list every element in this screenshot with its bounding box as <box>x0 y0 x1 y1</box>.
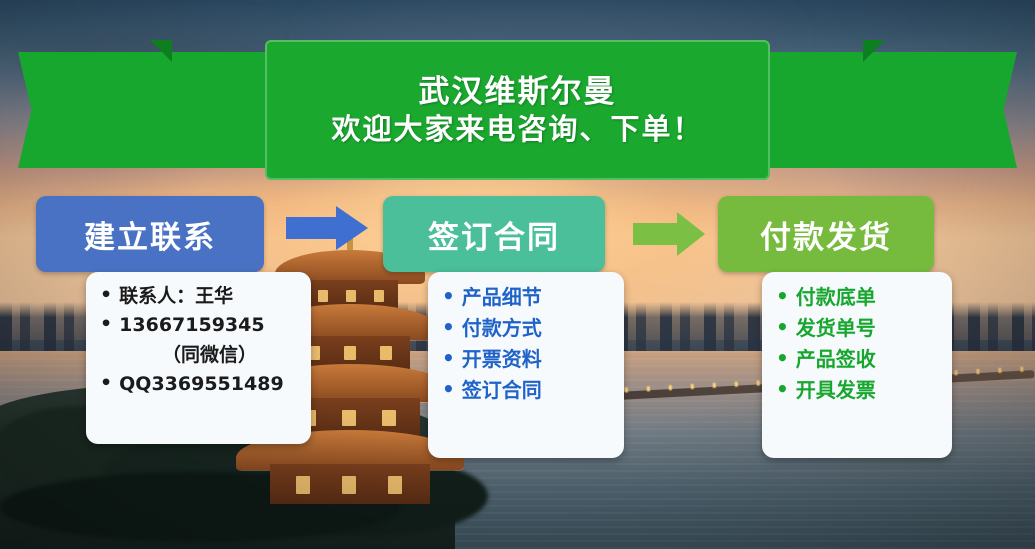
list-item: •开票资料 <box>442 344 610 375</box>
list-item-text: 产品签收 <box>796 344 876 375</box>
list-item-text: 签订合同 <box>462 375 542 406</box>
step-3-bullet-list: •付款底单 •发货单号 •产品签收 •开具发票 <box>776 282 938 406</box>
list-item: •付款底单 <box>776 282 938 313</box>
headline-ribbon: 武汉维斯尔曼 欢迎大家来电咨询、下单！ <box>0 40 1035 180</box>
list-item: •QQ3369551489 <box>100 370 297 399</box>
company-name: 武汉维斯尔曼 <box>419 73 617 112</box>
arrow-step2-to-step3 <box>633 212 705 256</box>
bullet-icon: • <box>776 375 789 404</box>
step-2-title: 签订合同 <box>383 196 605 272</box>
arrow-head-icon <box>677 212 705 256</box>
bullet-icon: • <box>776 282 789 311</box>
bullet-icon: • <box>442 375 455 404</box>
list-item: •联系人：王华 <box>100 282 297 311</box>
bullet-icon: • <box>442 282 455 311</box>
list-item: （同微信） <box>100 341 297 370</box>
list-item: •付款方式 <box>442 313 610 344</box>
bullet-icon: • <box>442 344 455 373</box>
step-3-title: 付款发货 <box>718 196 934 272</box>
ribbon-tail-right <box>867 52 1017 168</box>
bullet-icon: • <box>776 344 789 373</box>
list-item-text: 开票资料 <box>462 344 542 375</box>
step-2-bullet-list: •产品细节 •付款方式 •开票资料 •签订合同 <box>442 282 610 406</box>
ribbon-center-plate: 武汉维斯尔曼 欢迎大家来电咨询、下单！ <box>265 40 770 180</box>
list-item-text: 发货单号 <box>796 313 876 344</box>
list-item-text: 联系人：王华 <box>119 282 233 311</box>
list-item-text: 开具发票 <box>796 375 876 406</box>
ribbon-tail-left <box>18 52 168 168</box>
list-item-text: （同微信） <box>162 341 257 370</box>
step-1-title: 建立联系 <box>36 196 264 272</box>
arrow-head-icon <box>336 206 368 250</box>
bullet-icon: • <box>776 313 789 342</box>
bullet-icon: • <box>100 282 112 310</box>
step-3-details: •付款底单 •发货单号 •产品签收 •开具发票 <box>762 272 952 458</box>
list-item-text: 付款底单 <box>796 282 876 313</box>
list-item: •签订合同 <box>442 375 610 406</box>
list-item: •13667159345 <box>100 311 297 340</box>
list-item-text: 产品细节 <box>462 282 542 313</box>
poster-canvas: 武汉维斯尔曼 欢迎大家来电咨询、下单！ 建立联系 •联系人：王华 •136671… <box>0 0 1035 549</box>
bullet-icon: • <box>100 370 112 398</box>
list-item: •产品细节 <box>442 282 610 313</box>
list-item: •发货单号 <box>776 313 938 344</box>
step-2-details: •产品细节 •付款方式 •开票资料 •签订合同 <box>428 272 624 458</box>
arrow-shaft <box>633 223 677 245</box>
arrow-step1-to-step2 <box>286 206 368 250</box>
list-item: •产品签收 <box>776 344 938 375</box>
step-1-details: •联系人：王华 •13667159345 （同微信） •QQ3369551489 <box>86 272 311 444</box>
welcome-message: 欢迎大家来电咨询、下单！ <box>331 111 703 147</box>
list-item-text: QQ3369551489 <box>119 370 284 399</box>
list-item: •开具发票 <box>776 375 938 406</box>
step-1-bullet-list: •联系人：王华 •13667159345 （同微信） •QQ3369551489 <box>100 282 297 400</box>
bullet-icon: • <box>442 313 455 342</box>
list-item-text: 13667159345 <box>119 311 264 340</box>
bullet-icon: • <box>100 311 112 339</box>
list-item-text: 付款方式 <box>462 313 542 344</box>
arrow-shaft <box>286 217 338 239</box>
